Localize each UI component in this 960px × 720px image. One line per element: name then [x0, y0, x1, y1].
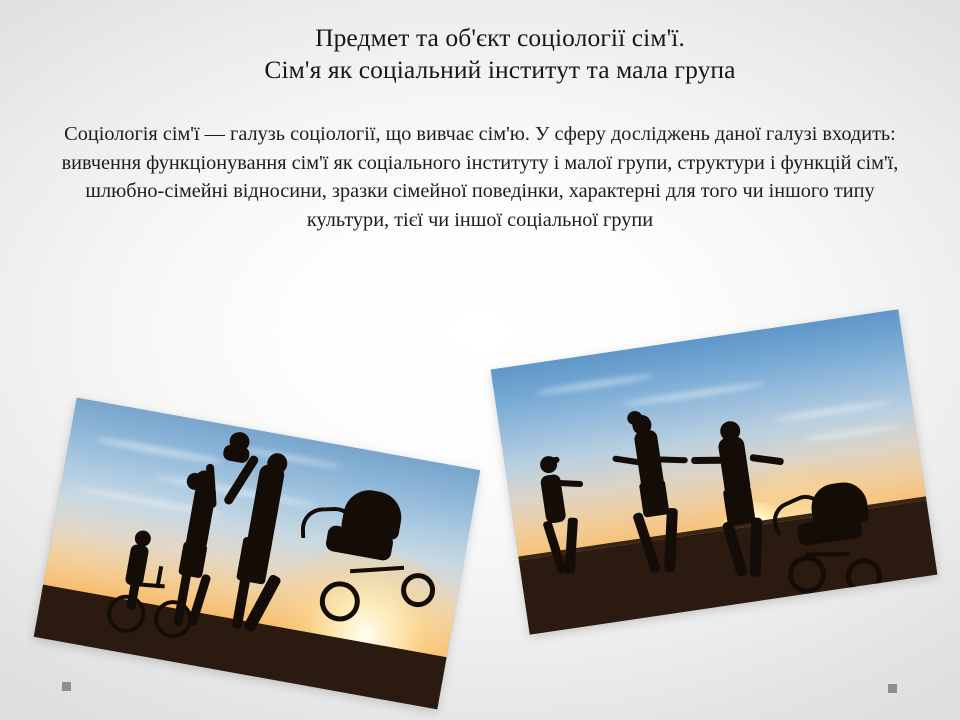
marker-left: [62, 682, 71, 691]
family-sunset-right-photo: [491, 309, 938, 634]
title-line-2: Сім'я як соціальний інститут та мала гру…: [120, 54, 880, 86]
mother-arm-silhouette: [658, 456, 688, 463]
father-leg-silhouette: [749, 517, 762, 576]
title-line-1: Предмет та об'єкт соціології сім'ї.: [120, 22, 880, 54]
mother-shorts-silhouette: [639, 479, 670, 517]
child-arm-silhouette: [553, 479, 583, 486]
body-text-block: Соціологія сім'ї — галузь соціології, що…: [55, 120, 905, 234]
marker-right: [888, 684, 897, 693]
body-paragraph: Соціологія сім'ї — галузь соціології, що…: [55, 120, 905, 234]
father-arm-silhouette: [692, 457, 724, 464]
presentation-slide: Предмет та об'єкт соціології сім'ї. Сім'…: [0, 0, 960, 720]
stroller-handle-icon: [300, 506, 357, 538]
page-title: Предмет та об'єкт соціології сім'ї. Сім'…: [120, 22, 880, 86]
family-sunset-left-photo: [34, 398, 481, 710]
